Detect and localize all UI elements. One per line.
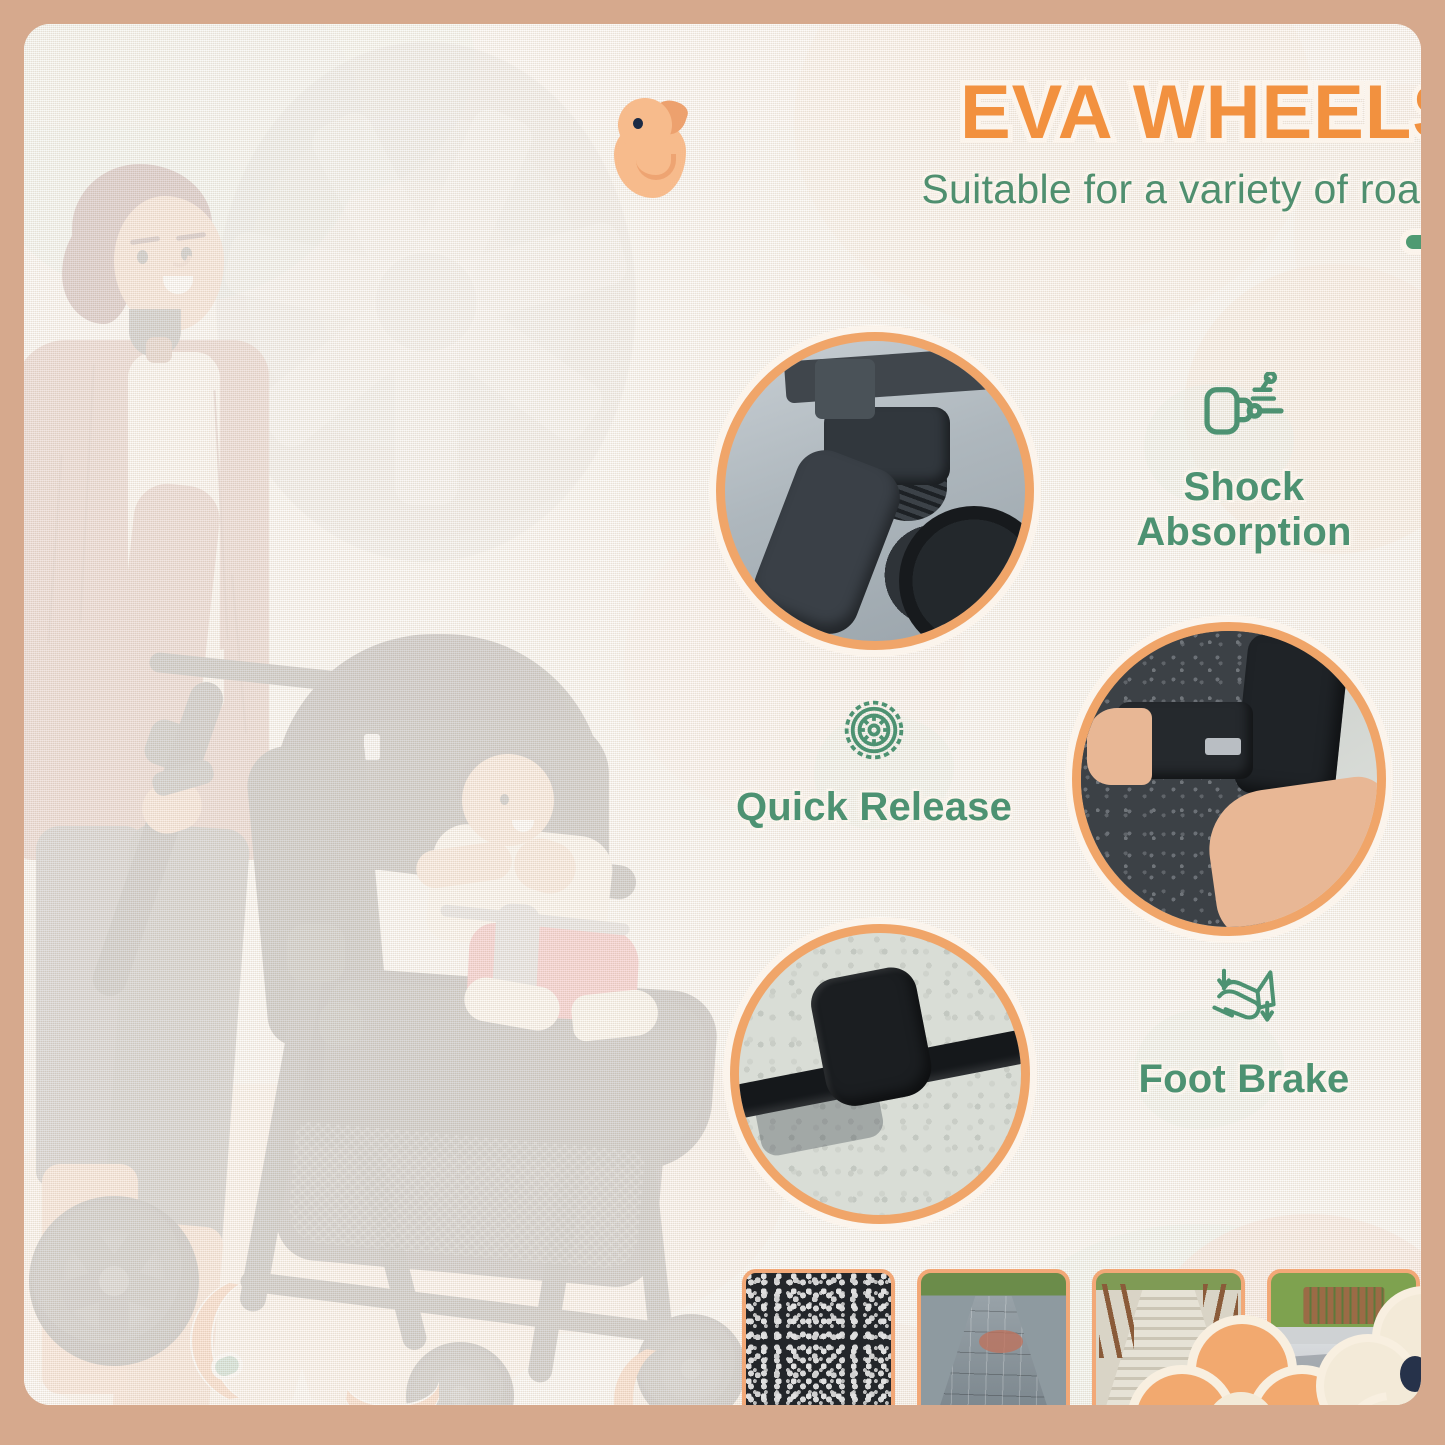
brake-pedal-photo: [730, 924, 1030, 1224]
feature-label-shock-line2: Absorption: [1064, 510, 1421, 555]
header-block: EVA WHEELS Suitable for a variety of roa…: [584, 74, 1421, 254]
tire-wheel-icon: [830, 692, 918, 768]
feature-quick-release: Quick Release: [684, 692, 1064, 830]
wheel-removal-photo: [1072, 622, 1386, 936]
shock-absorber-icon: [1200, 372, 1288, 448]
feature-label-shock-line1: Shock: [1064, 465, 1421, 510]
feature-label-foot-brake: Foot Brake: [1059, 1057, 1421, 1102]
poster-root: EVA WHEELS Suitable for a variety of roa…: [0, 0, 1445, 1445]
flower-cream-decoration: [1324, 1294, 1421, 1405]
feature-shock-absorption: Shock Absorption: [1064, 372, 1421, 555]
gravel-asphalt-thumbnail: [742, 1269, 895, 1405]
motion-arc-bottom: [342, 1381, 442, 1405]
flower-orange-decoration: [1136, 1324, 1346, 1405]
foot-on-pedal-icon: [1200, 964, 1288, 1040]
page-title: EVA WHEELS: [584, 74, 1421, 152]
brick-paved-path-thumbnail: [917, 1269, 1070, 1405]
poster-canvas: EVA WHEELS Suitable for a variety of roa…: [24, 24, 1421, 1405]
rear-wheel: [29, 1196, 199, 1366]
duck-icon: [614, 98, 686, 198]
suspension-closeup-photo: [716, 332, 1034, 650]
feature-foot-brake: Foot Brake: [1059, 964, 1421, 1102]
baby-illustration: [344, 754, 654, 1084]
header-accent-dash: [1406, 235, 1421, 249]
page-subtitle: Suitable for a variety of roads: [584, 166, 1421, 213]
feature-label-quick-release: Quick Release: [684, 785, 1064, 830]
